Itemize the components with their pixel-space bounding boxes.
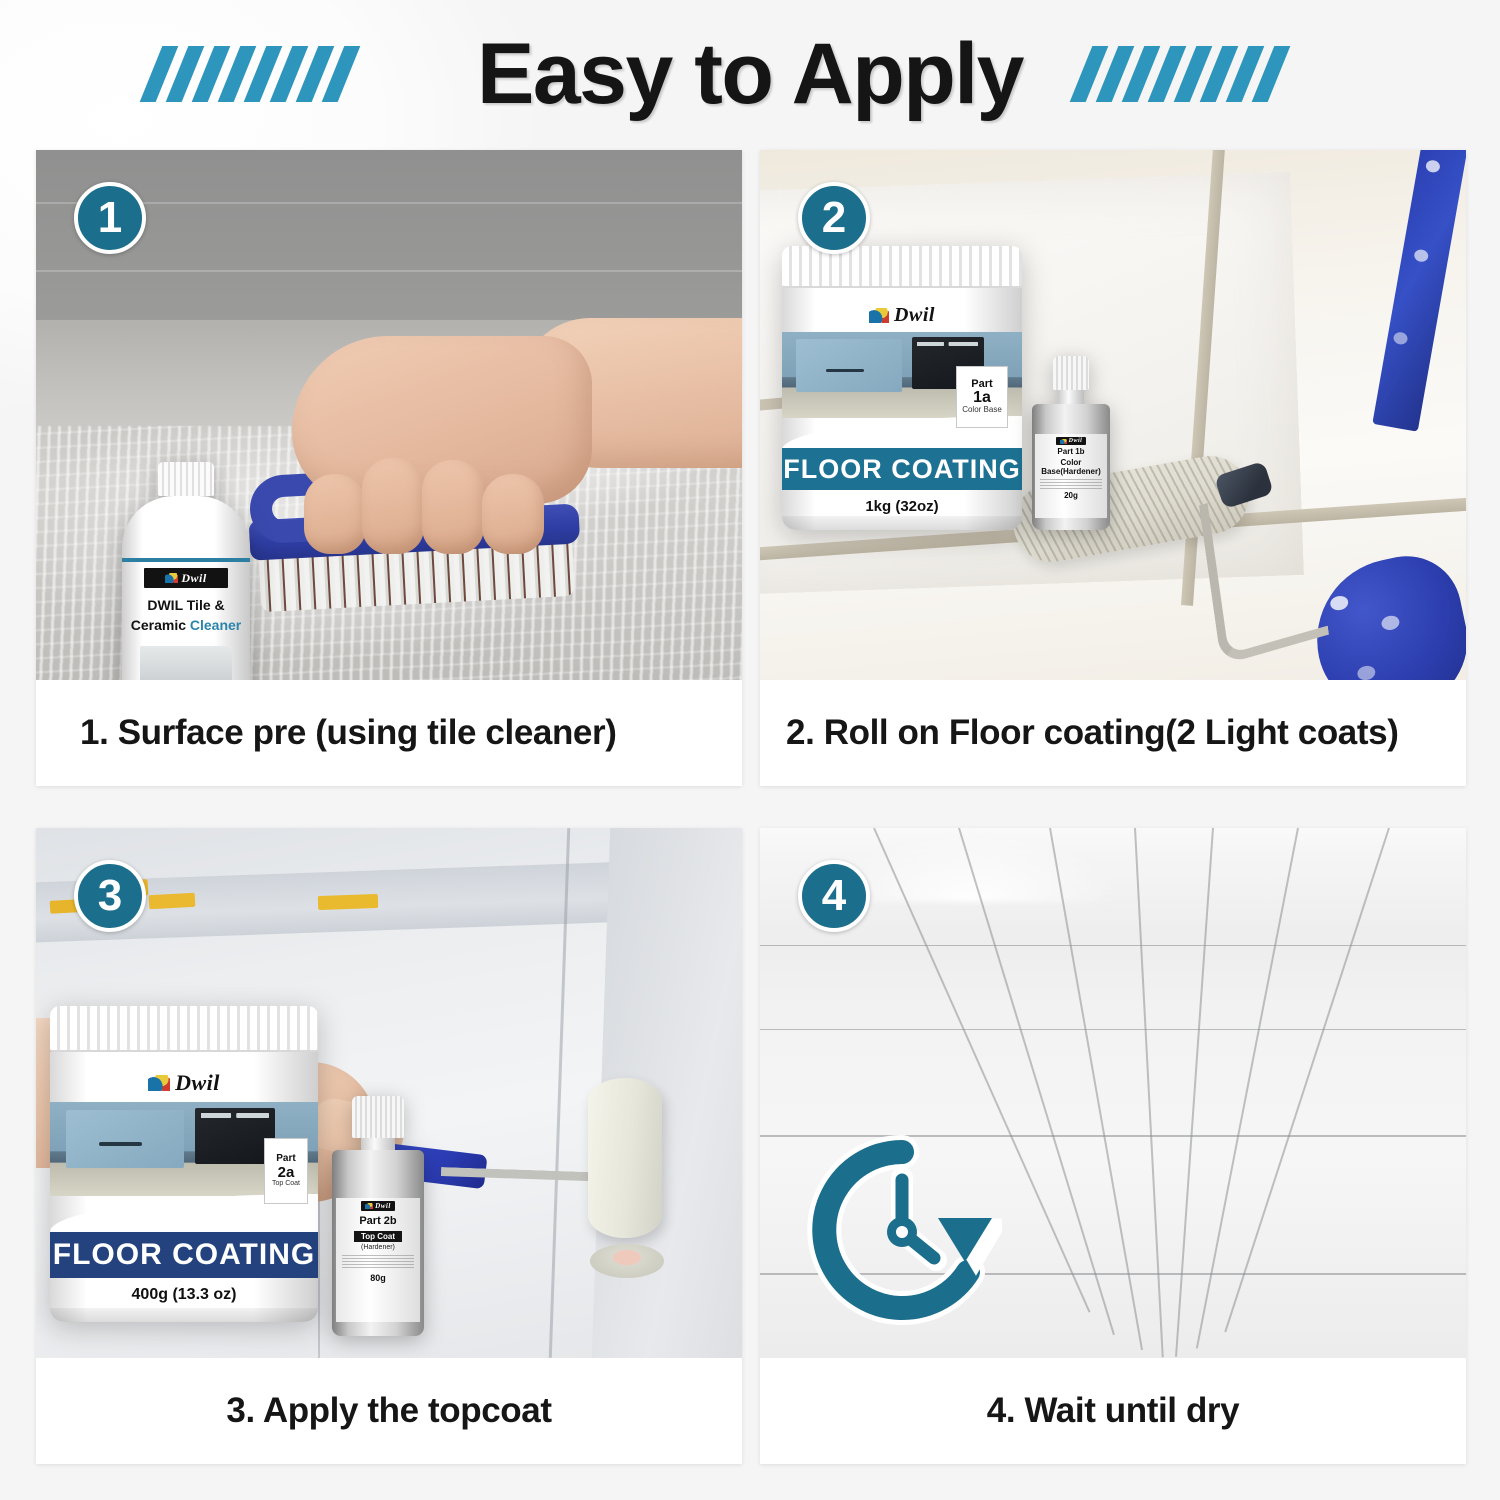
brand-name: Dwil — [175, 1070, 220, 1096]
jar-lid — [50, 1006, 318, 1052]
jar-body: Dwil Part 2a Top Coat — [50, 1052, 318, 1322]
step-card-1: Dwil DWIL Tile & Ceramic Cleaner 500ml(1… — [36, 150, 742, 786]
vial-brand-logo: Dwil — [361, 1201, 395, 1211]
vial-cap — [1053, 356, 1089, 390]
jar-weight: 1kg (32oz) — [782, 494, 1022, 518]
page-header: Easy to Apply — [0, 0, 1500, 148]
vial-product-subtitle: (Hardener) — [361, 1244, 395, 1251]
bottle-cap — [158, 462, 214, 496]
product-name-line-2: Ceramic Cleaner — [130, 616, 242, 634]
bottle-logo-box: Dwil — [144, 568, 228, 588]
step-4-photo: 4 — [760, 828, 1466, 1358]
clock-arrow-icon — [802, 1130, 1002, 1330]
step-3-caption-text: 3. Apply the topcoat — [226, 1391, 551, 1431]
vial-cap — [352, 1096, 404, 1138]
product-vial-part-2b: Dwil Part 2b Top Coat (Hardener) 80g — [332, 1096, 424, 1336]
vial-weight: 80g — [370, 1273, 386, 1283]
dwil-swoosh-icon — [148, 1075, 170, 1091]
step-2-caption-text: 2. Roll on Floor coating(2 Light coats) — [786, 713, 1398, 753]
vial-instructions-text — [342, 1255, 415, 1269]
jar-part-tag: Part 1a Color Base — [956, 366, 1008, 428]
kitchen-cabinet — [66, 1110, 184, 1168]
step-1-photo: Dwil DWIL Tile & Ceramic Cleaner 500ml(1… — [36, 150, 742, 680]
vial-brand-logo: Dwil — [1056, 437, 1087, 445]
vial-product-name: Top Coat — [354, 1231, 402, 1242]
steps-grid: Dwil DWIL Tile & Ceramic Cleaner 500ml(1… — [36, 150, 1466, 1464]
jar-brand-logo: Dwil — [782, 304, 1022, 327]
step-4-caption-text: 4. Wait until dry — [987, 1391, 1239, 1431]
jar-base-rim — [50, 1308, 318, 1322]
step-card-3: Dwil Part 2a Top Coat — [36, 828, 742, 1464]
brand-name: Dwil — [181, 571, 206, 586]
jar-weight: 400g (13.3 oz) — [50, 1282, 318, 1308]
vial-weight: 20g — [1064, 491, 1078, 500]
grout-line-horizontal — [760, 1029, 1466, 1030]
step-card-4: 4 4. Wait until dry — [760, 828, 1466, 1464]
dwil-swoosh-icon — [365, 1203, 373, 1209]
bottle-body: Dwil DWIL Tile & Ceramic Cleaner 500ml(1… — [122, 496, 250, 680]
step-1-caption-text: 1. Surface pre (using tile cleaner) — [80, 713, 616, 753]
vial-body: Dwil Part 1b Color Base(Hardener) 20g — [1032, 404, 1110, 530]
jar-body: Dwil Part 1a Color Base — [782, 288, 1022, 530]
step-2-photo: Dwil Part 1a Color Base — [760, 150, 1466, 680]
bottle-stripe-top — [122, 558, 250, 562]
dwil-swoosh-icon — [165, 573, 178, 583]
background-wall — [36, 150, 742, 320]
step-badge-1: 1 — [74, 182, 146, 254]
vial-part-label: Part 1b — [1057, 447, 1084, 456]
vial-product-name: Color Base(Hardener) — [1035, 458, 1107, 476]
jar-tag-sub-label: Color Base — [962, 406, 1002, 415]
finger — [304, 474, 366, 554]
bottle-tile-illustration — [140, 646, 232, 680]
jar-tag-part-number: 2a — [278, 1165, 295, 1180]
jar-tag-sub-label: Top Coat — [272, 1180, 300, 1188]
vial-neck — [361, 1138, 395, 1150]
vial-instructions-text — [1040, 479, 1102, 489]
jar-product-band: FLOOR COATING — [50, 1232, 318, 1278]
brand-name: Dwil — [1069, 438, 1083, 444]
step-4-caption: 4. Wait until dry — [760, 1358, 1466, 1464]
jar-tag-part-number: 1a — [973, 390, 991, 406]
step-2-caption: 2. Roll on Floor coating(2 Light coats) — [760, 680, 1466, 786]
jar-band-text: FLOOR COATING — [783, 454, 1020, 485]
product-name-part-a: Ceramic — [131, 617, 190, 633]
decorative-stripes-left — [151, 46, 419, 102]
page-title: Easy to Apply — [477, 31, 1023, 117]
jar-part-tag: Part 2a Top Coat — [264, 1138, 308, 1204]
step-3-caption: 3. Apply the topcoat — [36, 1358, 742, 1464]
product-name-part-b: Cleaner — [190, 617, 241, 633]
kitchen-cabinet — [796, 339, 902, 392]
yellow-tape-mark — [149, 893, 196, 909]
dwil-swoosh-icon — [869, 308, 889, 323]
roller-end-cap — [590, 1244, 664, 1278]
decorative-stripes-right — [1081, 46, 1349, 102]
grout-line-horizontal — [760, 945, 1466, 946]
roller-frame — [1199, 475, 1329, 666]
dwil-swoosh-icon — [1060, 439, 1067, 444]
yellow-tape-mark — [318, 894, 378, 910]
brand-name: Dwil — [375, 1202, 391, 1210]
jar-brand-logo: Dwil — [50, 1070, 318, 1096]
step-badge-2: 2 — [798, 182, 870, 254]
finger — [362, 458, 424, 554]
brand-name: Dwil — [894, 304, 935, 327]
step-card-2: Dwil Part 1a Color Base — [760, 150, 1466, 786]
jar-base-rim — [782, 516, 1022, 530]
vial-label: Dwil Part 1b Color Base(Hardener) 20g — [1035, 434, 1107, 518]
roller-nap — [588, 1078, 662, 1238]
finger — [422, 460, 484, 554]
infographic-page: Easy to Apply — [0, 0, 1500, 1500]
step-1-caption: 1. Surface pre (using tile cleaner) — [36, 680, 742, 786]
step-badge-4: 4 — [798, 860, 870, 932]
product-jar-part-2a: Dwil Part 2a Top Coat — [50, 1006, 318, 1322]
product-vial-part-1b: Dwil Part 1b Color Base(Hardener) 20g — [1032, 356, 1110, 530]
vial-part-label: Part 2b — [359, 1215, 396, 1227]
vial-neck — [1058, 390, 1084, 404]
step-3-photo: Dwil Part 2a Top Coat — [36, 828, 742, 1358]
jar-product-band: FLOOR COATING — [782, 448, 1022, 490]
vial-body: Dwil Part 2b Top Coat (Hardener) 80g — [332, 1150, 424, 1336]
hand — [282, 318, 742, 548]
jar-lid — [782, 246, 1022, 288]
vial-label: Dwil Part 2b Top Coat (Hardener) 80g — [336, 1198, 421, 1322]
product-name-line-1: DWIL Tile & — [130, 596, 242, 614]
jar-band-text: FLOOR COATING — [53, 1238, 315, 1272]
product-cleaner-bottle: Dwil DWIL Tile & Ceramic Cleaner 500ml(1… — [122, 462, 250, 680]
step-badge-3: 3 — [74, 860, 146, 932]
product-jar-part-1a: Dwil Part 1a Color Base — [782, 246, 1022, 530]
finger — [482, 474, 544, 554]
